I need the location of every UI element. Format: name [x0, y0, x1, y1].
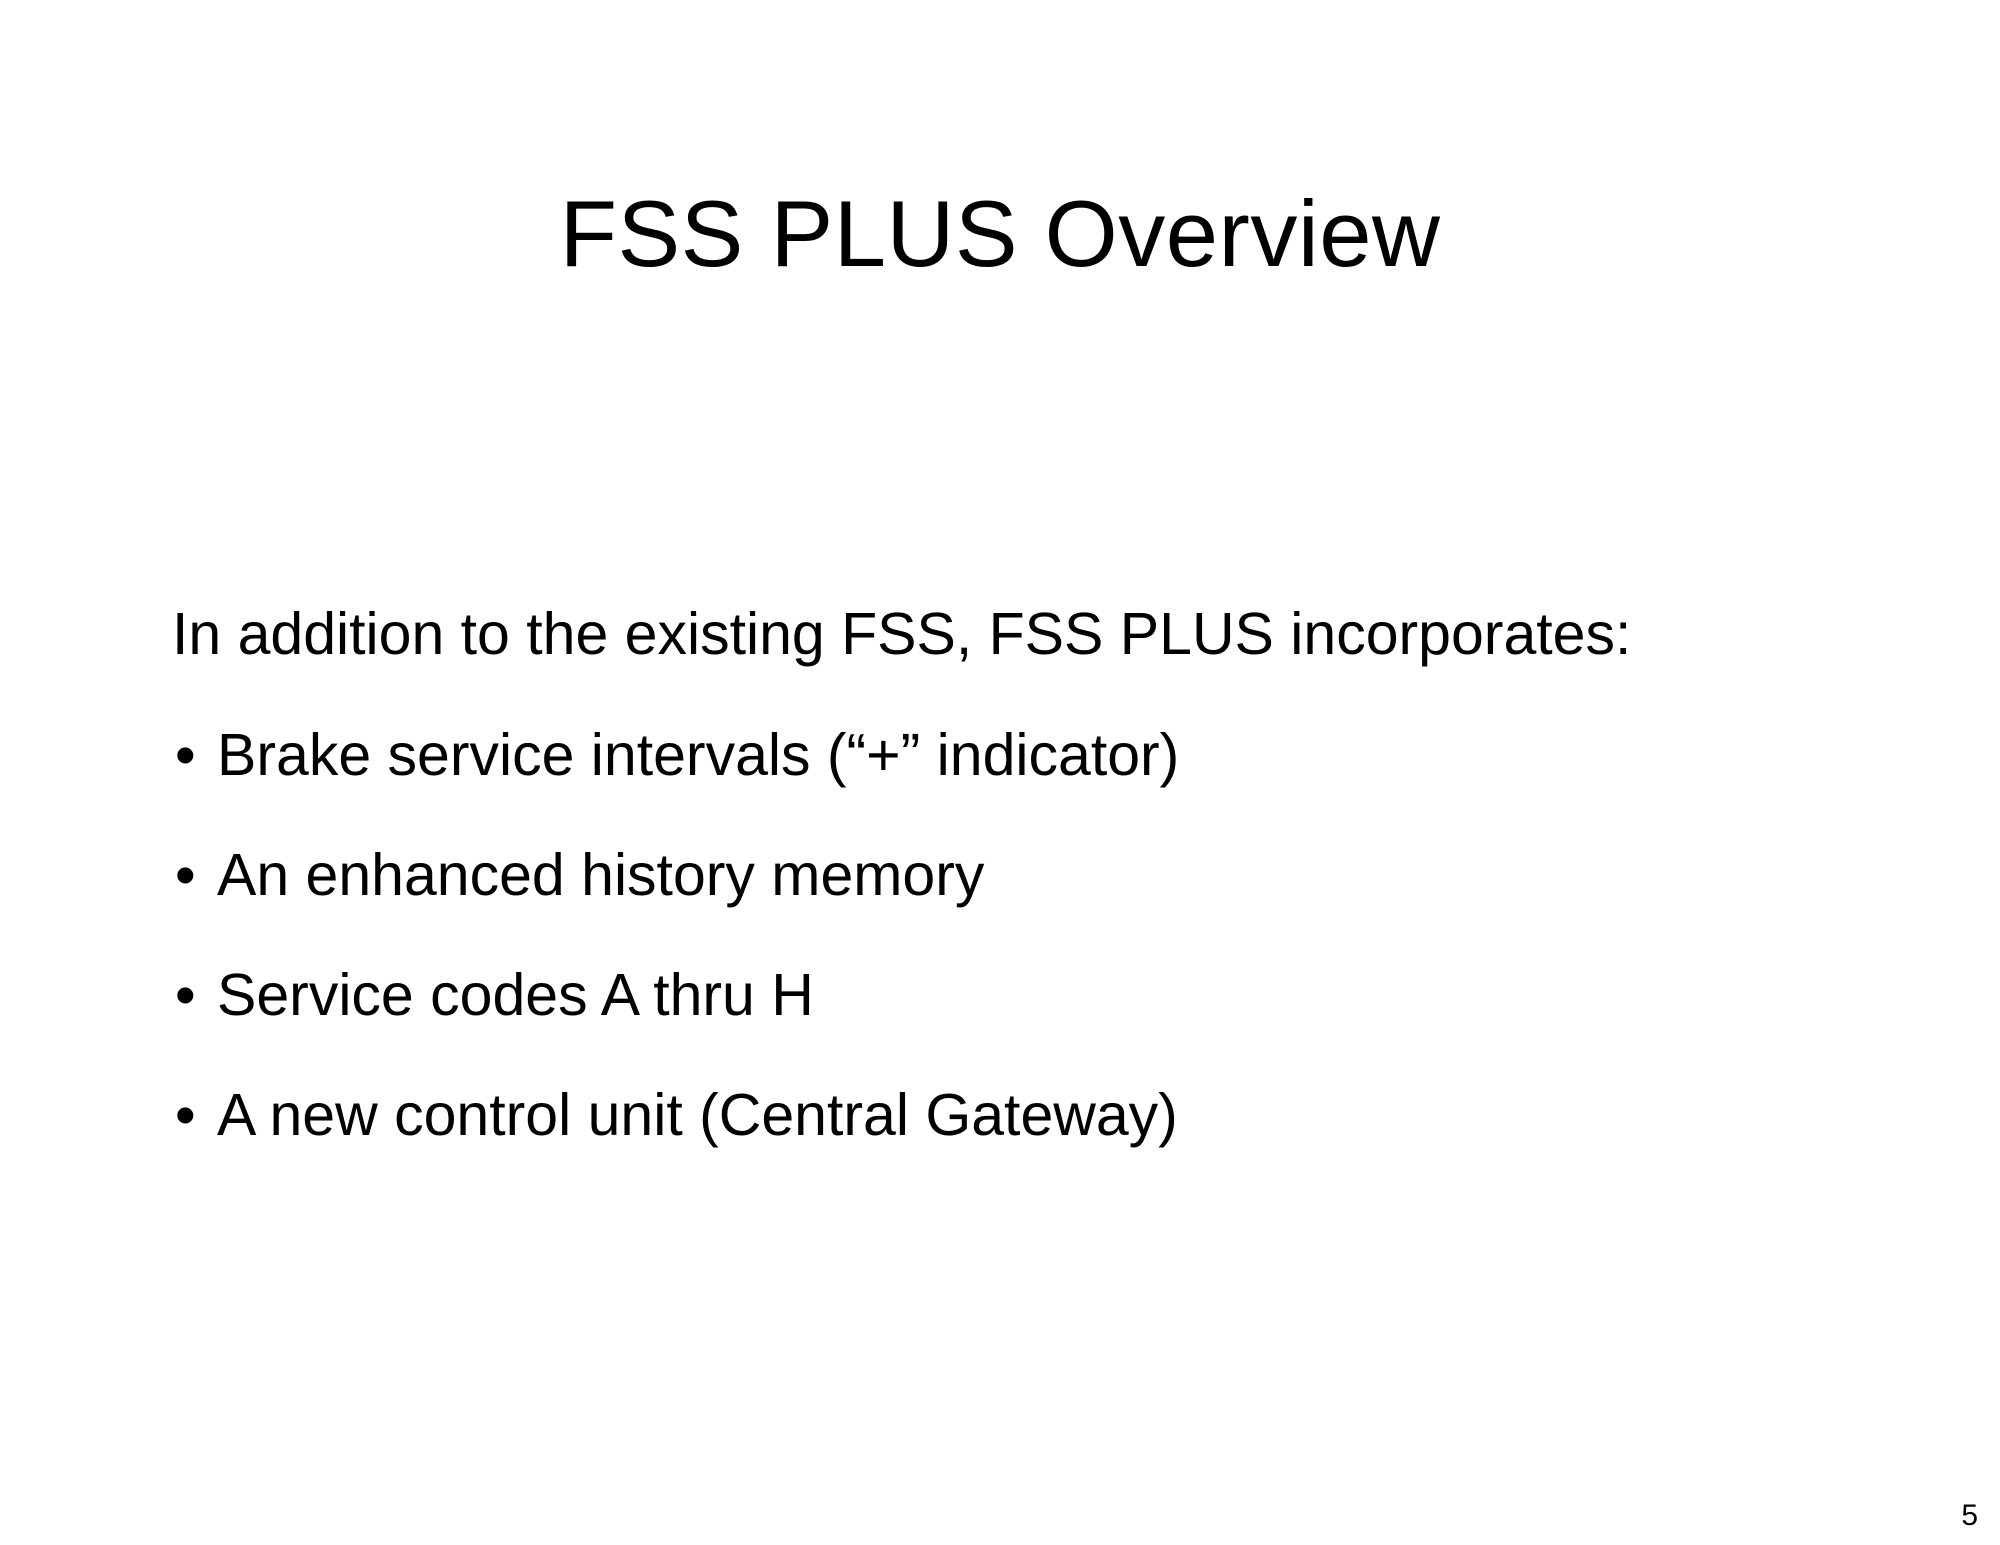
- bullet-list: • Brake service intervals (“+” indicator…: [170, 726, 1930, 1145]
- list-item-label: A new control unit (Central Gateway): [217, 1082, 1178, 1148]
- bullet-point-icon: •: [175, 726, 196, 785]
- slide-body: In addition to the existing FSS, FSS PLU…: [170, 605, 1930, 1145]
- bullet-point-icon: •: [175, 846, 196, 905]
- list-item-label: Service codes A thru H: [217, 962, 814, 1028]
- list-item: • A new control unit (Central Gateway): [170, 1086, 1930, 1145]
- page-number: 5: [1961, 1501, 1978, 1531]
- list-item-label: An enhanced history memory: [217, 842, 984, 908]
- bullet-point-icon: •: [175, 1086, 196, 1145]
- slide-canvas: FSS PLUS Overview In addition to the exi…: [0, 0, 2000, 1545]
- list-item: • An enhanced history memory: [170, 846, 1930, 905]
- intro-text: In addition to the existing FSS, FSS PLU…: [170, 605, 1930, 664]
- list-item: • Brake service intervals (“+” indicator…: [170, 726, 1930, 785]
- page-title: FSS PLUS Overview: [0, 185, 2000, 284]
- list-item-label: Brake service intervals (“+” indicator): [217, 722, 1179, 788]
- list-item: • Service codes A thru H: [170, 966, 1930, 1025]
- bullet-point-icon: •: [175, 966, 196, 1025]
